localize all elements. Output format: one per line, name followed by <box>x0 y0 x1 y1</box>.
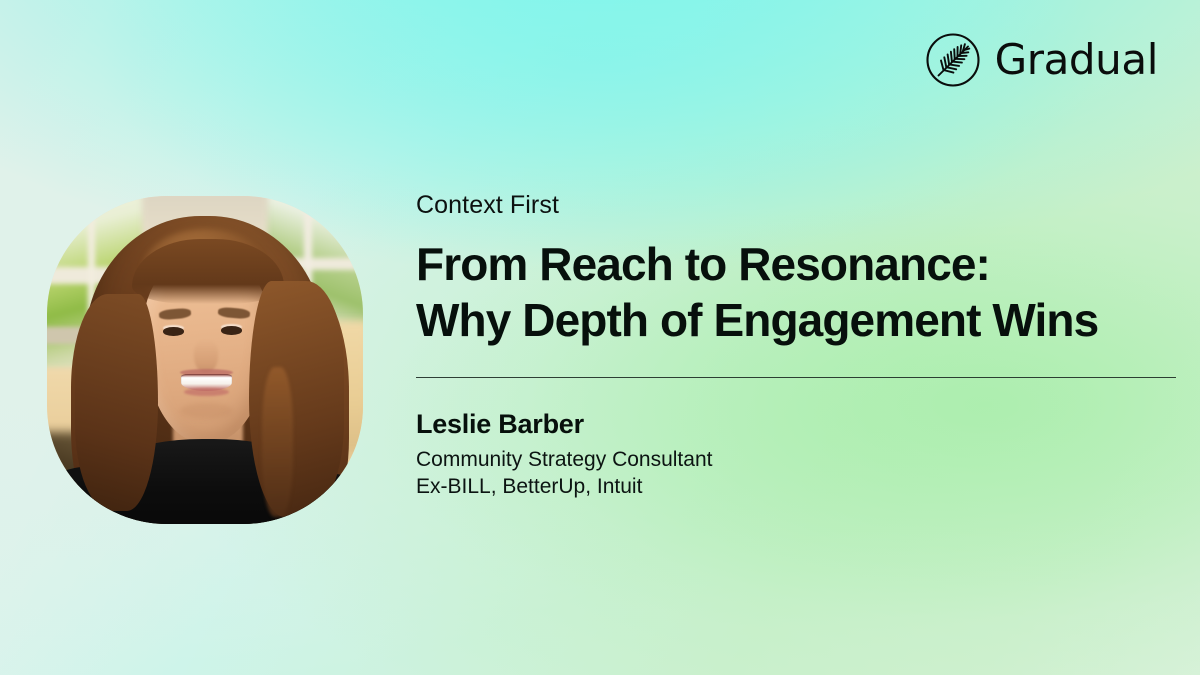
photo-chin <box>180 403 234 419</box>
photo-hair-strand <box>262 367 294 518</box>
session-content: Context First From Reach to Resonance: W… <box>416 190 1182 501</box>
speaker-photo-image <box>47 196 363 524</box>
brand-logo: Gradual <box>925 32 1158 88</box>
photo-lower-lip <box>184 388 228 396</box>
photo-eye-right <box>221 326 241 335</box>
fern-in-circle-icon <box>925 32 981 88</box>
session-eyebrow: Context First <box>416 190 1182 221</box>
brand-name: Gradual <box>995 39 1158 81</box>
speaker-block: Leslie Barber Community Strategy Consult… <box>416 408 1182 501</box>
photo-hair-front-left <box>75 294 157 510</box>
photo-eye-left <box>163 327 183 336</box>
speaker-photo <box>47 196 363 524</box>
speaker-name: Leslie Barber <box>416 408 1182 440</box>
divider <box>416 377 1176 378</box>
speaker-previously: Ex-BILL, BetterUp, Intuit <box>416 473 1182 500</box>
session-title: From Reach to Resonance: Why Depth of En… <box>416 237 1182 348</box>
speaker-role: Community Strategy Consultant <box>416 446 1182 473</box>
